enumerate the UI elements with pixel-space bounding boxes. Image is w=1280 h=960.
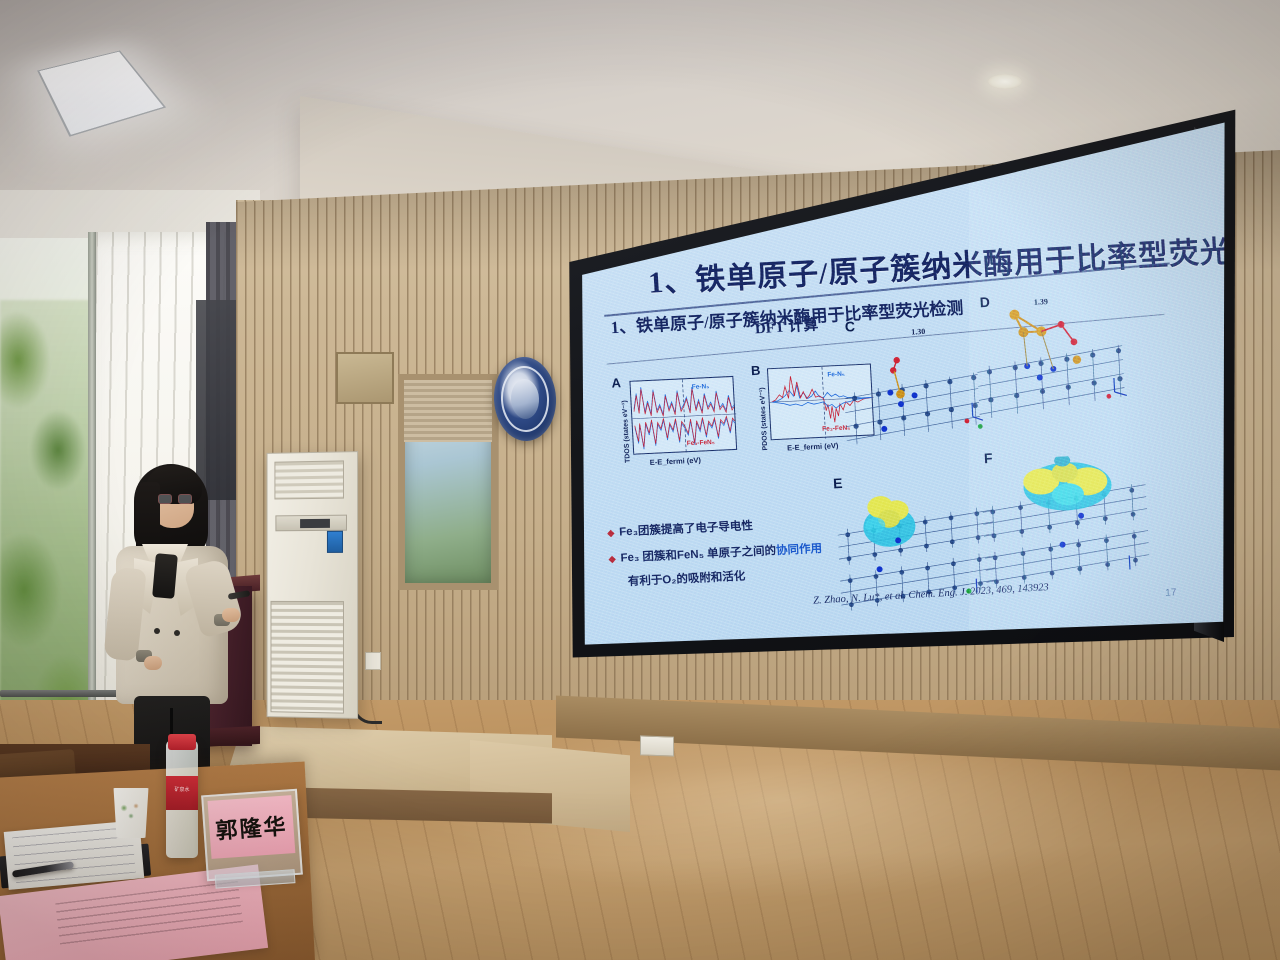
water-bottle-label xyxy=(166,776,198,810)
display-screen[interactable]: 1、铁单原子/原子簇纳米酶用于比率型荧光检测 1、铁单原子/原子簇纳米酶用于比率… xyxy=(566,92,1238,678)
panel-a-plot-frame xyxy=(629,376,737,455)
ac-control-panel[interactable] xyxy=(275,515,347,532)
coat-button xyxy=(154,628,160,634)
nameplate-name: 郭隆华 xyxy=(208,797,296,857)
window-mullion xyxy=(88,232,96,764)
downlight-icon xyxy=(988,74,1022,89)
panel-b-xlabel: E-E_fermi (eV) xyxy=(787,441,839,452)
bullet-marker-icon: ◆ xyxy=(608,554,615,564)
paper-cup-pattern xyxy=(118,800,144,822)
bullet-text-3: 有利于O₂的吸附和活化 xyxy=(628,571,746,589)
presenter-hand-left xyxy=(144,656,162,670)
bullet-item-1: ◆Fe₃团簇提高了电子导电性 xyxy=(607,517,753,540)
panel-f-charge-density xyxy=(974,452,1161,600)
panel-letter-c: C xyxy=(844,318,855,334)
led-panel-light-icon xyxy=(37,51,166,137)
slide-content: 1、铁单原子/原子簇纳米酶用于比率型荧光检测 1、铁单原子/原子簇纳米酶用于比率… xyxy=(566,92,1238,678)
presenter-hand-right xyxy=(222,608,240,622)
ac-energy-label xyxy=(327,531,343,553)
glasses-icon xyxy=(158,494,192,504)
window-blind xyxy=(404,380,492,442)
ac-display-screen xyxy=(300,519,330,528)
panel-c-bond-label: 1.30 xyxy=(911,327,925,337)
bullet-text-2-highlight: 协同作用 xyxy=(776,543,823,557)
air-conditioner-unit[interactable] xyxy=(267,451,359,719)
dft-label: DFT 计算 xyxy=(754,313,819,338)
water-bottle-cap[interactable] xyxy=(168,734,196,750)
led-display[interactable]: 1、铁单原子/原子簇纳米酶用于比率型荧光检测 1、铁单原子/原子簇纳米酶用于比率… xyxy=(566,92,1238,678)
water-bottle-label-text: 矿泉水 xyxy=(168,786,196,793)
panel-a-xlabel: E-E_fermi (eV) xyxy=(649,456,701,467)
bullet-item-2: ◆Fe₃ 团簇和FeN₅ 单原子之间的协同作用 xyxy=(608,540,822,566)
ac-top-vent xyxy=(274,460,344,499)
pink-handout-text-lines xyxy=(55,881,243,947)
panel-a-dos-curves xyxy=(630,377,738,456)
panel-letter-a: A xyxy=(611,375,621,390)
panel-a-series-red: Fe₃-FeN₅ xyxy=(687,439,715,447)
coat-button xyxy=(174,630,180,636)
wall-outlet[interactable] xyxy=(640,735,674,756)
panel-letter-b: B xyxy=(751,363,761,378)
conference-room-photo: 1、铁单原子/原子簇纳米酶用于比率型荧光检测 1、铁单原子/原子簇纳米酶用于比率… xyxy=(0,0,1280,960)
wall-mounted-box xyxy=(336,352,394,404)
panel-c-structure xyxy=(836,334,992,461)
presenter-scarf xyxy=(152,553,178,599)
ac-bottom-vent xyxy=(270,601,343,714)
panel-d-structure xyxy=(968,299,1140,457)
slide-page-number: 17 xyxy=(1165,587,1177,599)
panel-a-series-blue: Fe-N₅ xyxy=(692,383,710,391)
nameplate-holder: 郭隆华 xyxy=(201,789,303,881)
bullet-marker-icon: ◆ xyxy=(607,528,614,538)
bullet-item-3: 有利于O₂的吸附和活化 xyxy=(627,568,745,590)
bullet-text-1: Fe₃团簇提高了电子导电性 xyxy=(619,520,753,538)
bullet-text-2-pre: Fe₃ 团簇和FeN₅ 单原子之间的 xyxy=(620,545,776,564)
